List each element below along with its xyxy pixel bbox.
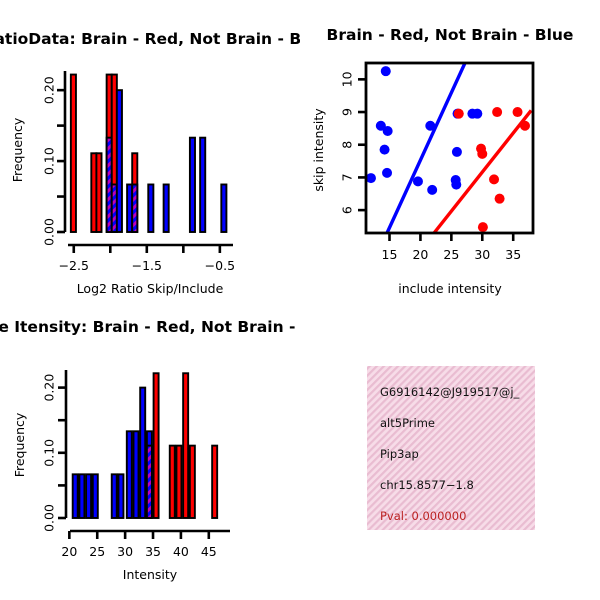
scatter-point	[478, 222, 488, 232]
panel-intensity-histogram: ne Itensity: Brain - Red, Not Brain - B …	[0, 300, 300, 600]
histogram-bar	[221, 184, 226, 232]
scatter-point	[427, 185, 437, 195]
x-tick-label: 45	[201, 544, 217, 559]
panel-info-box: G6916142@J919517@j_alt5PrimePip3apchr15.…	[300, 300, 600, 600]
histogram-bar	[118, 474, 123, 518]
info-box-line: alt5Prime	[380, 416, 435, 430]
info-box-svg: G6916142@J919517@j_alt5PrimePip3apchr15.…	[300, 300, 600, 600]
scatter-point	[454, 109, 464, 119]
scatter-point	[489, 174, 499, 184]
scatter-point	[477, 149, 487, 159]
scatter-point	[520, 121, 530, 131]
info-box-line: Pip3ap	[380, 447, 419, 461]
scatter-x-ticks: 1520253035	[382, 233, 522, 262]
y-tick-label: 0.10	[42, 439, 57, 467]
ratio-histogram-ylabel: Frequency	[10, 117, 25, 182]
y-tick-label: 0.20	[42, 374, 57, 402]
y-tick-label: 0.00	[42, 218, 57, 246]
histogram-bar	[183, 373, 188, 518]
histogram-bar	[176, 446, 181, 518]
x-tick-label: −0.5	[205, 258, 235, 273]
ratio-histogram-bars	[71, 75, 227, 232]
y-tick-label: 9	[340, 108, 355, 116]
scatter-point	[366, 173, 376, 183]
scatter-xlabel: include intensity	[398, 281, 502, 296]
x-tick-label: 40	[173, 544, 189, 559]
histogram-bar	[127, 431, 132, 518]
scatter-point	[472, 109, 482, 119]
intensity-histogram-y-axis: 0.000.100.20	[42, 370, 67, 532]
splice-event-figure: RatioData: Brain - Red, Not Brain - Blu …	[0, 0, 600, 600]
histogram-bar	[93, 474, 98, 518]
scatter-point	[513, 107, 523, 117]
histogram-bar	[212, 446, 217, 518]
intensity-histogram-title: ne Itensity: Brain - Red, Not Brain - B	[0, 318, 300, 336]
intensity-histogram-svg: ne Itensity: Brain - Red, Not Brain - B …	[0, 300, 300, 600]
scatter-points	[366, 66, 530, 232]
panel-scatter: Brain - Red, Not Brain - Blue 678910 152…	[300, 0, 600, 300]
scatter-svg: Brain - Red, Not Brain - Blue 678910 152…	[300, 0, 600, 300]
x-tick-label: −2.5	[59, 258, 89, 273]
y-tick-label: 8	[340, 141, 355, 149]
histogram-bar	[117, 90, 122, 232]
x-tick-label: 35	[145, 544, 161, 559]
histogram-bar	[134, 431, 139, 518]
info-box-line: chr15.8577−1.8	[380, 478, 474, 492]
ratio-histogram-title: RatioData: Brain - Red, Not Brain - Blu	[0, 30, 300, 48]
x-tick-label: 35	[505, 247, 521, 262]
x-tick-label: 20	[412, 247, 428, 262]
y-tick-label: 7	[340, 173, 355, 181]
histogram-bar	[154, 373, 159, 518]
x-tick-label: 30	[474, 247, 490, 262]
histogram-bar	[147, 446, 152, 518]
scatter-point	[495, 194, 505, 204]
scatter-y-ticks: 678910	[340, 71, 367, 214]
scatter-point	[451, 180, 461, 190]
ratio-histogram-y-axis: 0.000.100.20	[42, 71, 66, 246]
info-box-line: G6916142@J919517@j_	[380, 385, 520, 399]
histogram-bar	[190, 138, 195, 232]
y-tick-label: 6	[340, 206, 355, 214]
histogram-bar	[96, 153, 101, 232]
histogram-bar	[170, 446, 175, 518]
x-tick-label: 15	[382, 247, 398, 262]
x-tick-label: 30	[117, 544, 133, 559]
histogram-bar	[79, 474, 84, 518]
panel-ratio-histogram: RatioData: Brain - Red, Not Brain - Blu …	[0, 0, 300, 300]
x-tick-label: 25	[443, 247, 459, 262]
histogram-bar	[164, 184, 169, 232]
intensity-histogram-ylabel: Frequency	[12, 412, 27, 477]
y-tick-label: 0.00	[42, 504, 57, 532]
y-tick-label: 0.10	[42, 147, 57, 175]
scatter-point	[380, 145, 390, 155]
scatter-point	[383, 126, 393, 136]
histogram-bar	[112, 474, 117, 518]
regression-line	[434, 110, 531, 233]
scatter-point	[425, 121, 435, 131]
histogram-bar	[148, 184, 153, 232]
x-tick-label: 20	[61, 544, 77, 559]
intensity-histogram-bars	[73, 373, 217, 518]
histogram-bar	[86, 474, 91, 518]
intensity-histogram-x-axis: 202530354045	[61, 531, 230, 559]
histogram-bar	[71, 75, 76, 232]
x-tick-label: 25	[89, 544, 105, 559]
scatter-point	[382, 168, 392, 178]
y-tick-label: 10	[340, 71, 355, 87]
histogram-bar	[73, 474, 78, 518]
y-tick-label: 0.20	[42, 76, 57, 104]
scatter-point	[452, 147, 462, 157]
ratio-histogram-x-axis: −2.5−1.5−0.5	[59, 245, 235, 273]
scatter-title: Brain - Red, Not Brain - Blue	[327, 26, 574, 44]
x-tick-label: −1.5	[132, 258, 162, 273]
scatter-point	[381, 66, 391, 76]
histogram-bar	[132, 184, 137, 232]
histogram-bar	[140, 388, 145, 518]
info-box-pval: Pval: 0.000000	[380, 509, 466, 523]
scatter-point	[413, 176, 423, 186]
scatter-ylabel: skip intensity	[311, 108, 326, 192]
histogram-bar	[200, 138, 205, 232]
scatter-point	[492, 107, 502, 117]
scatter-frame	[366, 63, 533, 233]
ratio-histogram-xlabel: Log2 Ratio Skip/Include	[77, 281, 224, 296]
ratio-histogram-svg: RatioData: Brain - Red, Not Brain - Blu …	[0, 0, 300, 300]
intensity-histogram-xlabel: Intensity	[123, 567, 178, 582]
histogram-bar	[190, 446, 195, 518]
